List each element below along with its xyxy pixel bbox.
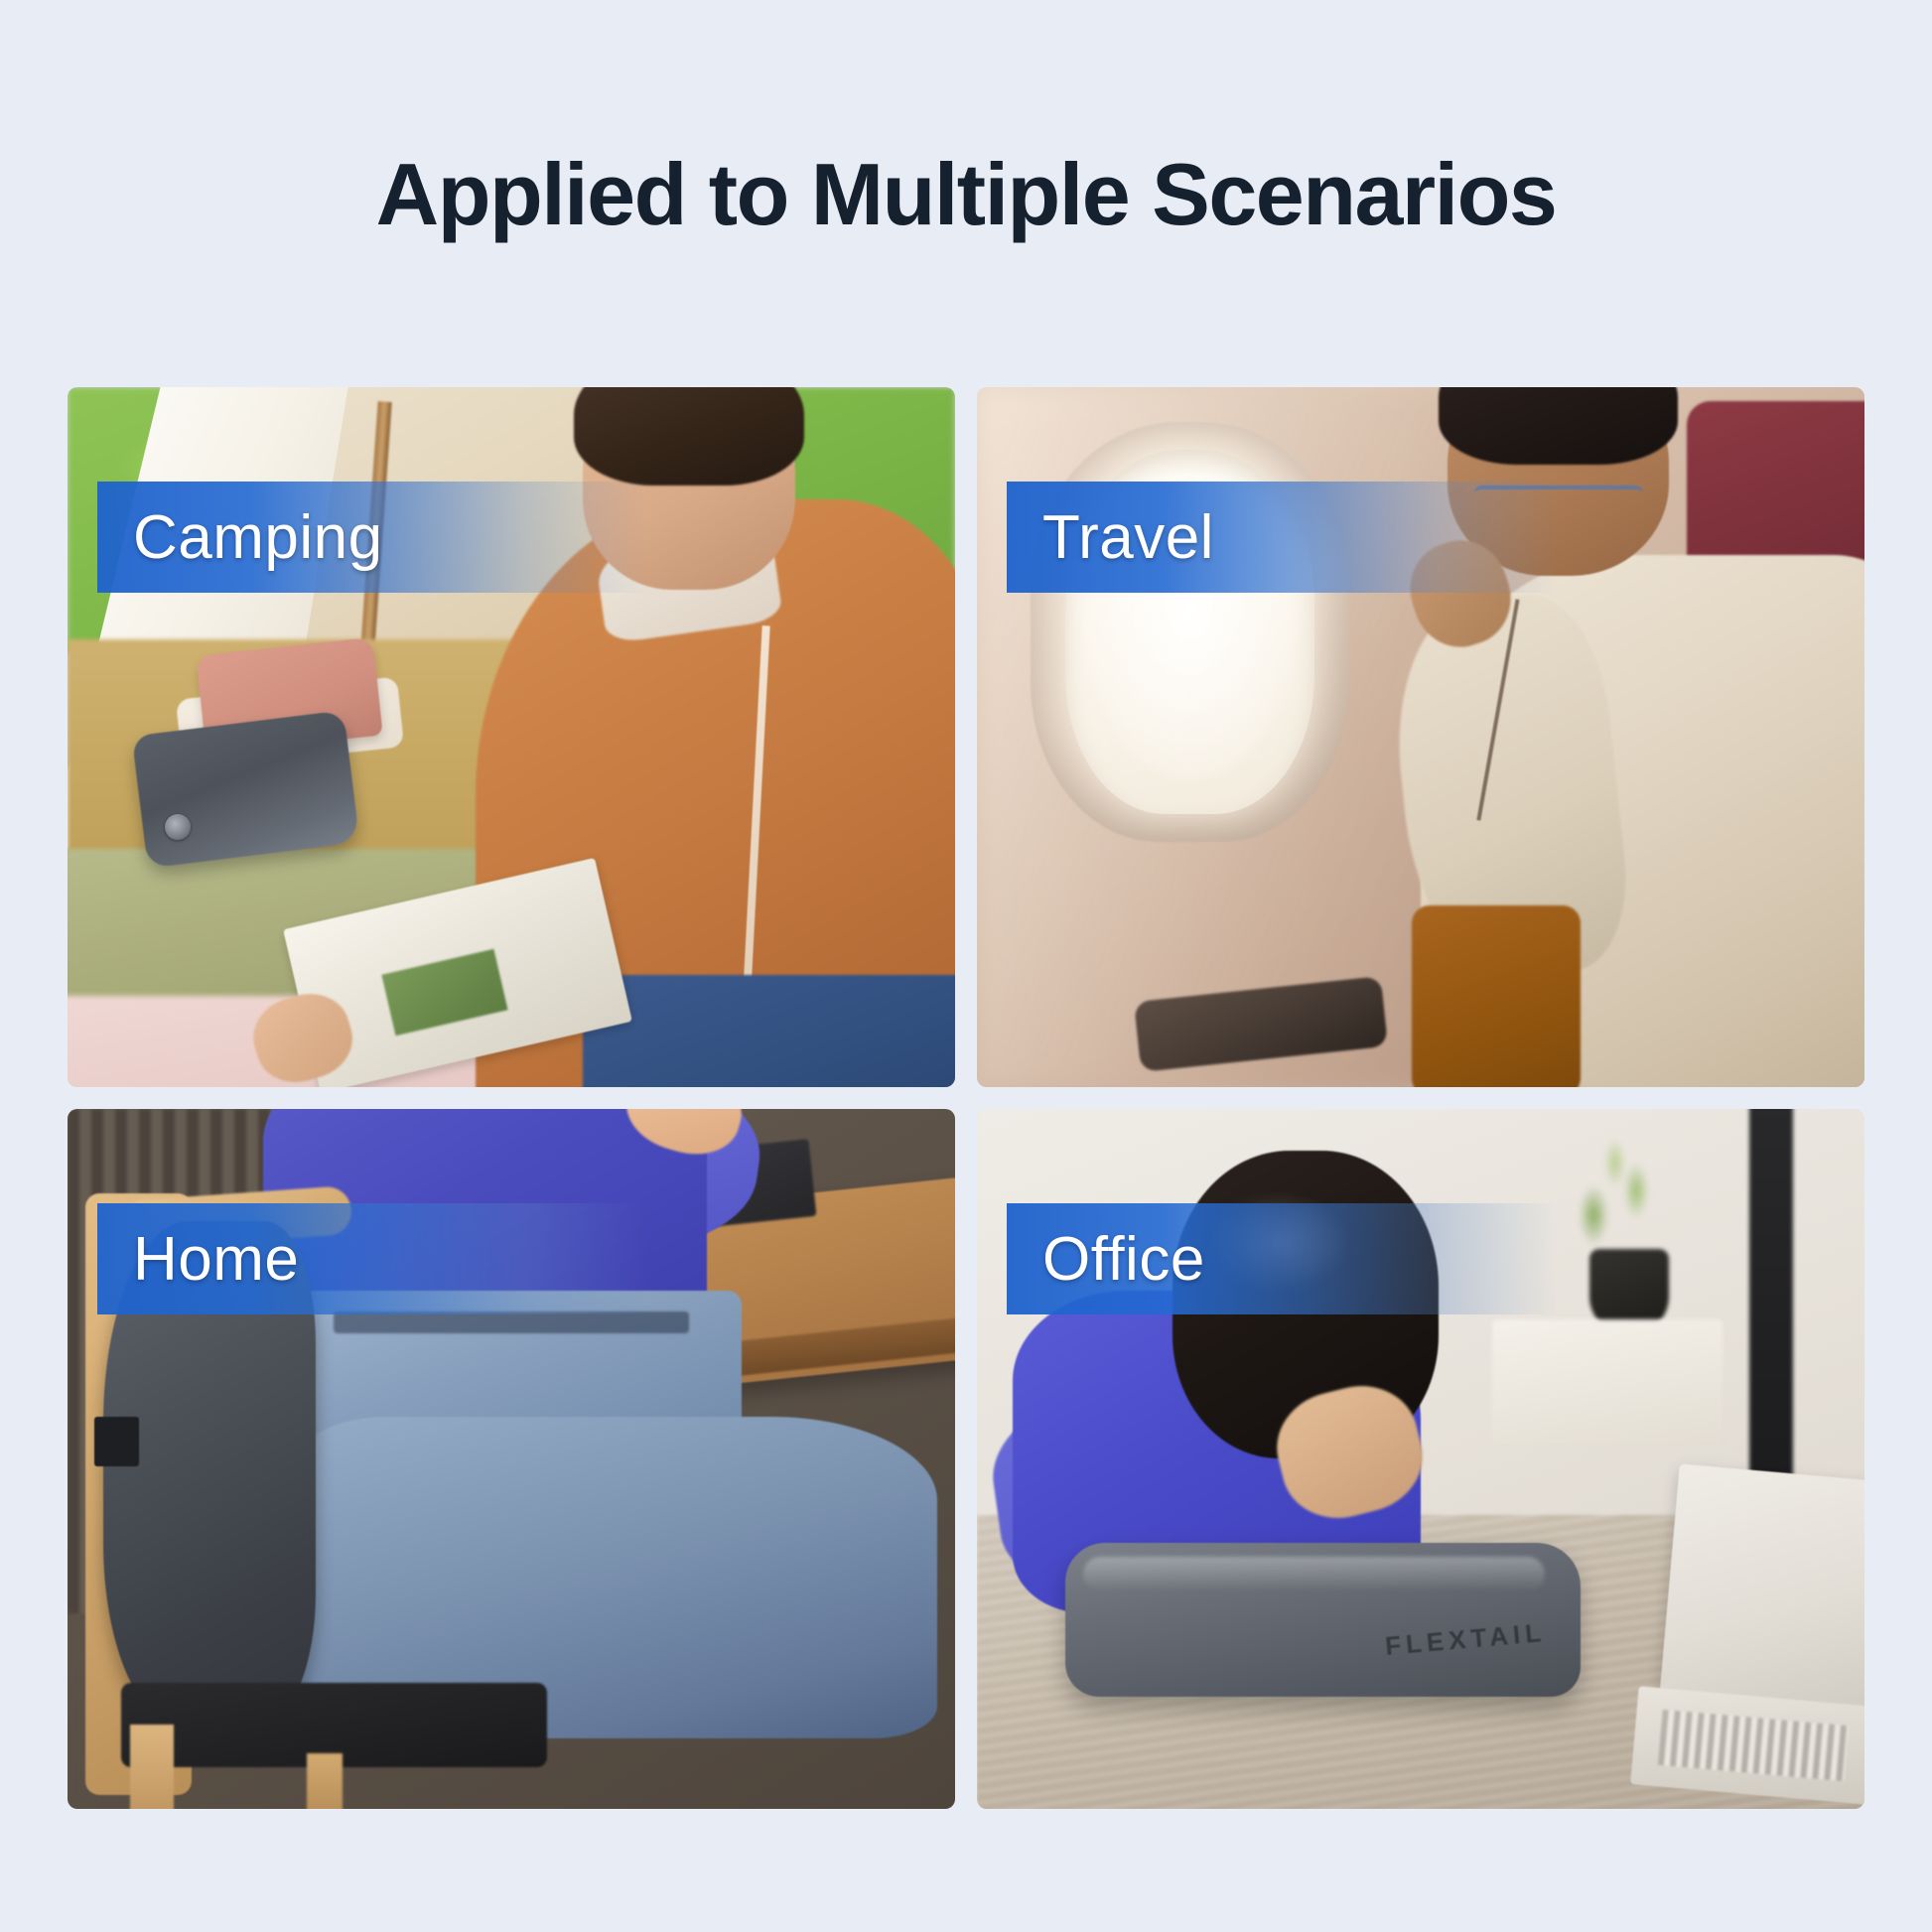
scenario-label-office: Office	[1007, 1203, 1557, 1314]
scenario-card-travel[interactable]: Travel	[977, 387, 1864, 1087]
scenario-grid: Camping	[68, 387, 1864, 1809]
grey-inflatable-pillow	[131, 711, 358, 869]
camper-jeans	[583, 975, 955, 1087]
side-table	[1492, 1319, 1723, 1446]
home-user-belt	[334, 1311, 689, 1332]
scenario-card-office[interactable]: FLEXTAIL Office	[977, 1109, 1864, 1809]
scenario-label-camping: Camping	[97, 482, 647, 593]
chair-leg-back	[307, 1753, 343, 1809]
scenario-label-travel: Travel	[1007, 482, 1557, 593]
scenarios-page: Applied to Multiple Scenarios	[0, 0, 1932, 1932]
pillow-highlight	[1083, 1557, 1545, 1591]
office-laptop-screen	[1659, 1463, 1864, 1721]
scenario-label-home: Home	[97, 1203, 647, 1314]
traveler-hair	[1439, 387, 1678, 465]
chair-leg-front	[130, 1725, 175, 1809]
scenario-label-text: Travel	[1042, 502, 1214, 573]
scenario-label-text: Office	[1042, 1224, 1205, 1295]
scenario-label-text: Home	[133, 1224, 299, 1295]
scenario-card-home[interactable]: Home	[68, 1109, 955, 1809]
scenario-card-camping[interactable]: Camping	[68, 387, 955, 1087]
cushion-strap	[94, 1417, 139, 1465]
door-frame	[1749, 1109, 1794, 1515]
traveler-bag	[1412, 905, 1581, 1087]
page-title: Applied to Multiple Scenarios	[0, 147, 1932, 243]
camper-hair	[574, 387, 804, 485]
scenario-label-text: Camping	[133, 502, 383, 573]
